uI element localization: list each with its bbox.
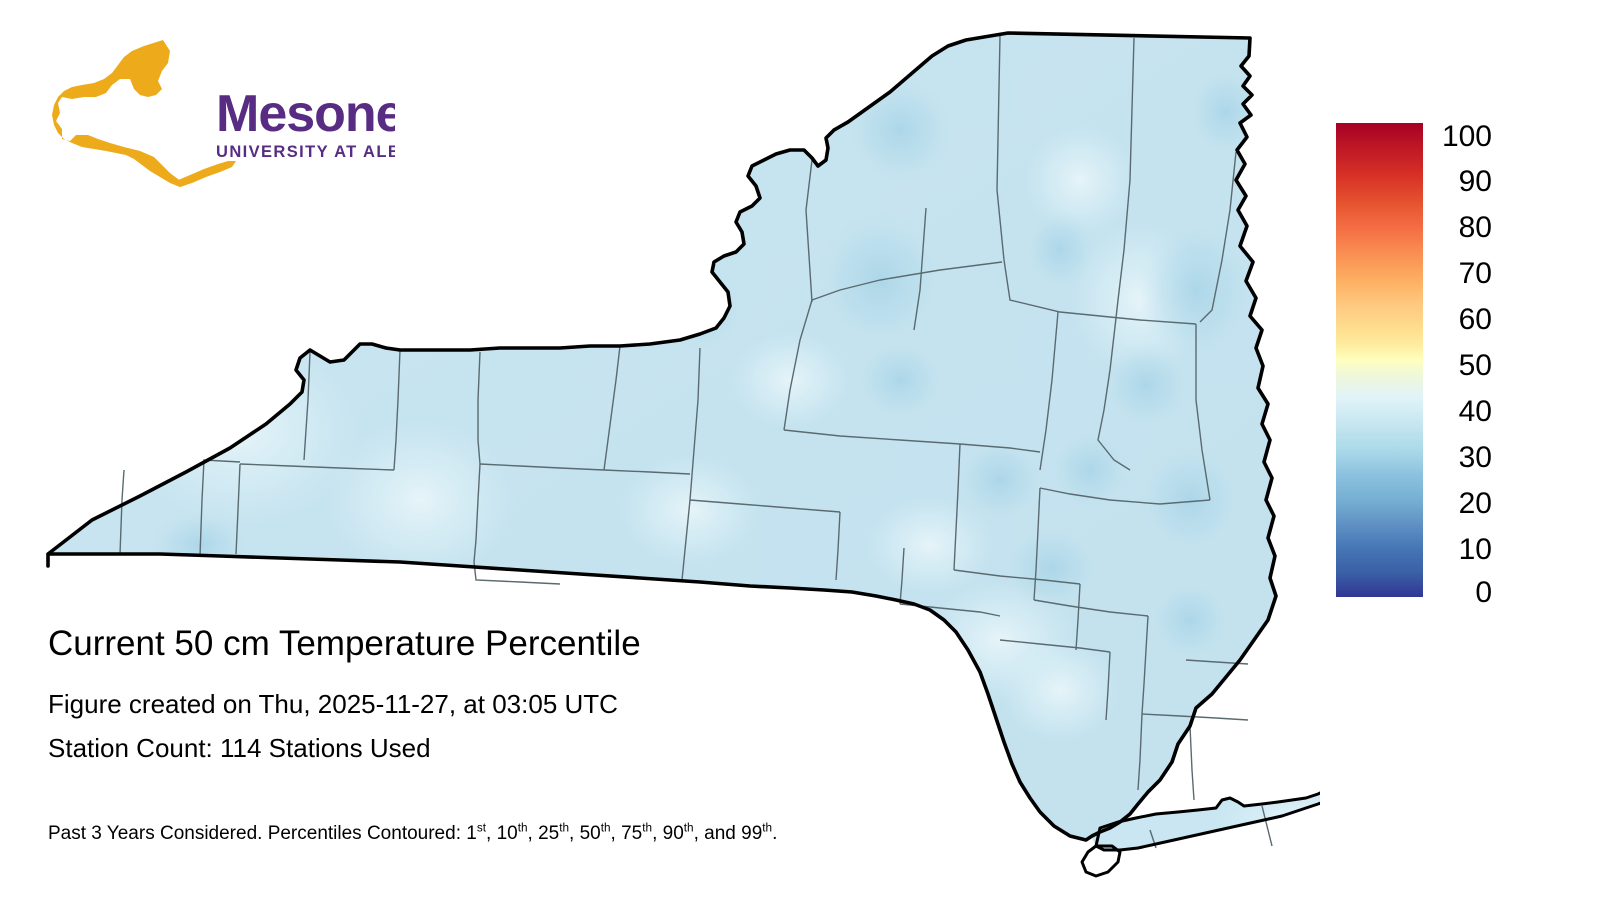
colorbar-tick-60: 60 — [1430, 305, 1492, 335]
colorbar-tick-20: 20 — [1430, 489, 1492, 519]
footnote-percentiles: 1st, 10th, 25th, 50th, 75th, 90th, and 9… — [466, 823, 777, 844]
figure-canvas: NYS Mesonet UNIVERSITY AT ALBANY 100 90 … — [0, 0, 1600, 900]
logo-graphic: NYS Mesonet UNIVERSITY AT ALBANY — [50, 35, 395, 195]
nys-mesonet-logo: NYS Mesonet UNIVERSITY AT ALBANY — [50, 35, 395, 195]
colorbar-tick-90: 90 — [1430, 167, 1492, 197]
colorbar-tick-80: 80 — [1430, 213, 1492, 243]
colorbar-tick-50: 50 — [1430, 351, 1492, 381]
colorbar-gradient-strip — [1336, 123, 1423, 597]
footnote-line: Past 3 Years Considered. Percentiles Con… — [48, 822, 777, 846]
logo-mesonet-text: Mesonet — [216, 85, 395, 143]
figure-text-block: Current 50 cm Temperature Percentile Fig… — [48, 622, 998, 770]
page-title: Current 50 cm Temperature Percentile — [48, 622, 998, 666]
colorbar-tick-30: 30 — [1430, 443, 1492, 473]
figure-created-line: Figure created on Thu, 2025-11-27, at 03… — [48, 682, 998, 726]
station-count-line: Station Count: 114 Stations Used — [48, 726, 998, 770]
colorbar-tick-70: 70 — [1430, 259, 1492, 289]
footnote-prefix: Past 3 Years Considered. Percentiles Con… — [48, 823, 466, 844]
logo-long-island-shape — [176, 161, 236, 187]
colorbar-tick-0: 0 — [1430, 578, 1492, 608]
percentile-colorbar — [1336, 123, 1423, 597]
colorbar-tick-labels: 100 90 80 70 60 50 40 30 20 10 0 — [1430, 0, 1520, 900]
logo-university-text: UNIVERSITY AT ALBANY — [216, 143, 395, 161]
colorbar-tick-100: 100 — [1430, 122, 1492, 152]
colorbar-tick-10: 10 — [1430, 535, 1492, 565]
colorbar-tick-40: 40 — [1430, 397, 1492, 427]
